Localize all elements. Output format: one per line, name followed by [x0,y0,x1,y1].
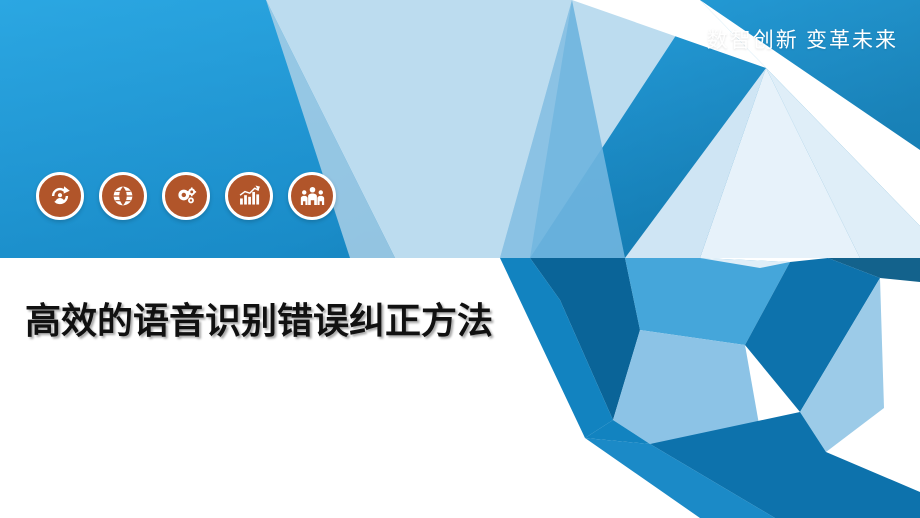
icon-badge-people-group[interactable] [288,172,336,220]
header-tagline: 数智创新 变革未来 [707,24,898,54]
icon-badge-recycle-person[interactable] [36,172,84,220]
feature-icon-row [36,172,336,220]
bar-chart-growth-icon [236,183,262,209]
recycle-person-icon [47,183,73,209]
icon-badge-gears[interactable] [162,172,210,220]
icon-badge-globe[interactable] [99,172,147,220]
presentation-slide: 数智创新 变革未来 [0,0,920,518]
people-group-icon [299,183,326,210]
low-poly-background-artwork [0,0,920,518]
gears-icon [173,183,200,210]
icon-badge-bar-chart-growth[interactable] [225,172,273,220]
globe-icon [110,183,136,209]
slide-title: 高效的语音识别错误纠正方法 [25,296,525,347]
